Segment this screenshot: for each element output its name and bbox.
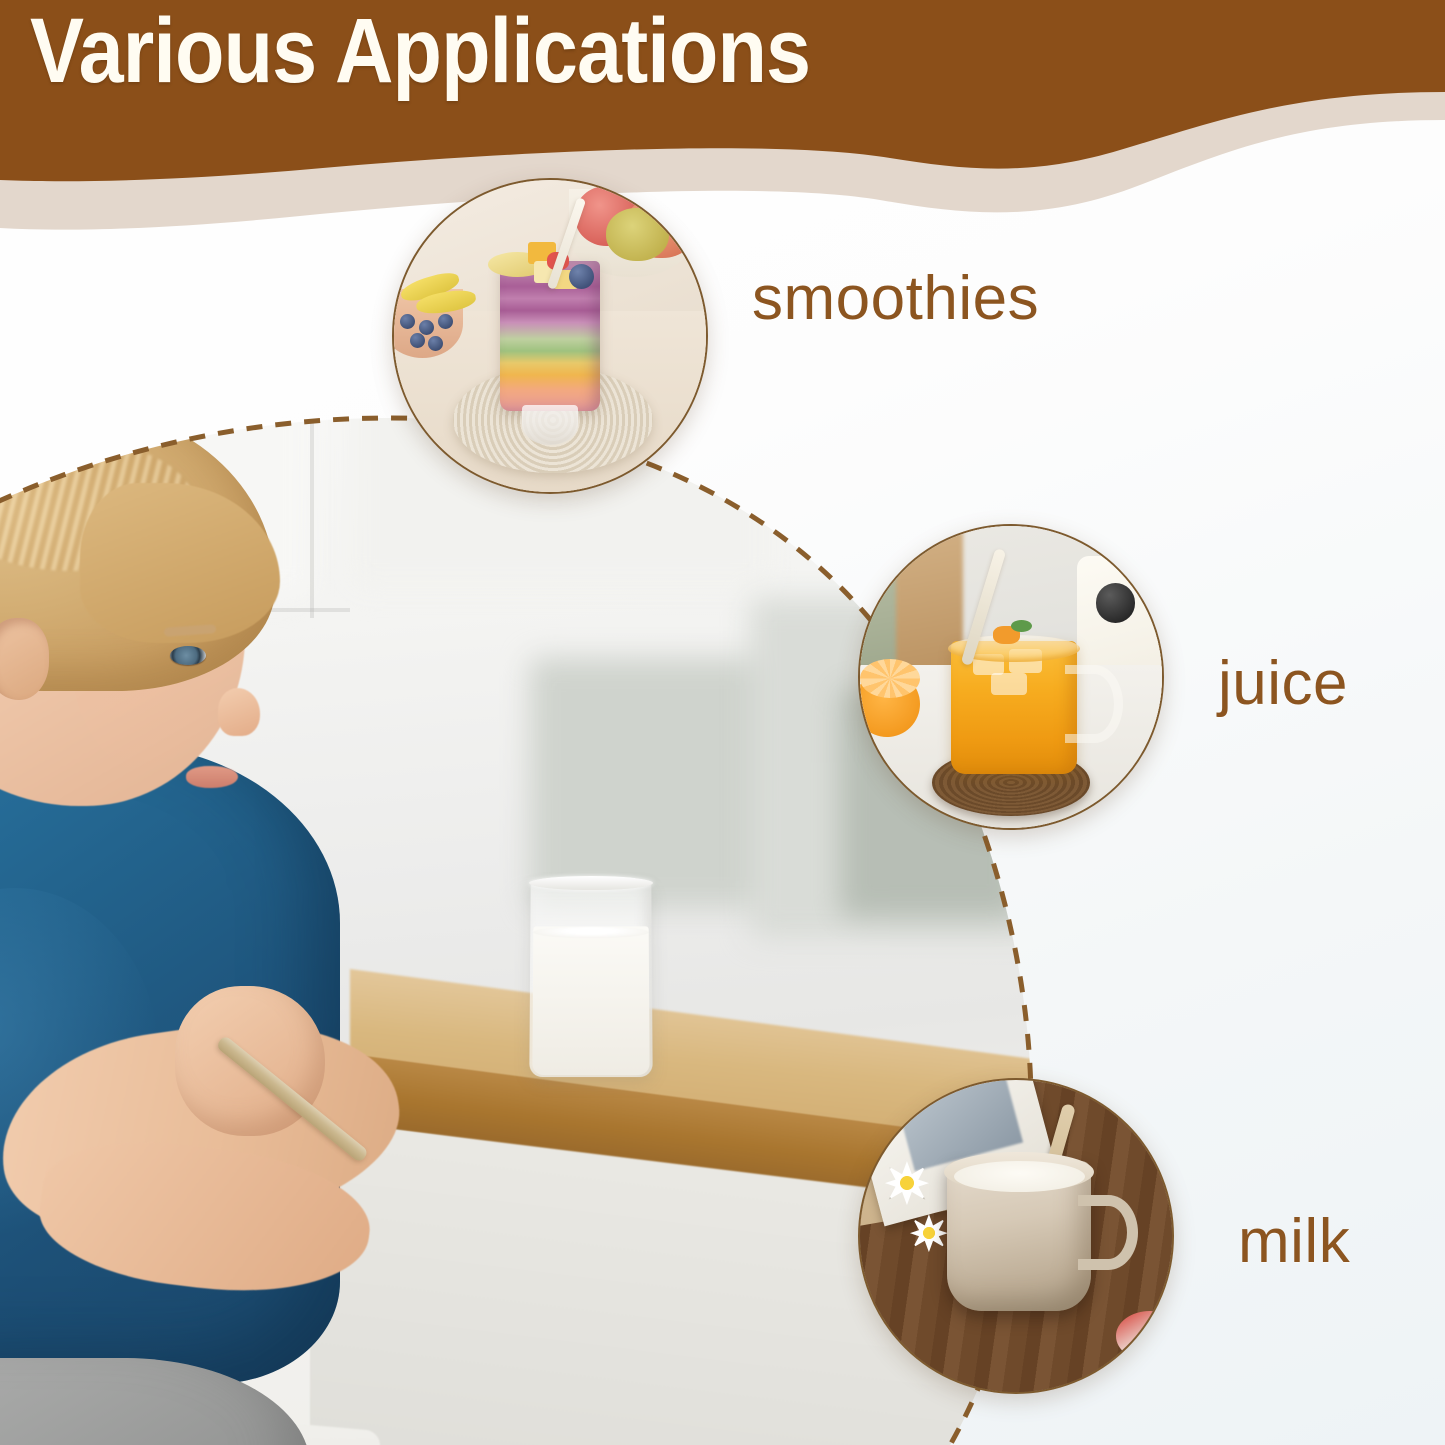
callout-label-smoothies: smoothies bbox=[752, 263, 1039, 334]
header-banner: Various Applications bbox=[0, 0, 1445, 300]
glass-rim bbox=[529, 876, 653, 890]
callout-circle-smoothies[interactable] bbox=[392, 178, 708, 494]
juice-photo bbox=[860, 526, 1162, 828]
glass-foot bbox=[522, 405, 578, 446]
daisy-flower bbox=[910, 1214, 948, 1252]
milk-surface bbox=[954, 1161, 1085, 1192]
callout-circle-juice[interactable] bbox=[858, 524, 1164, 830]
appliance-knob bbox=[1096, 583, 1135, 622]
smoothie-photo bbox=[394, 180, 706, 492]
milk-glass bbox=[529, 882, 652, 1077]
callout-circle-milk[interactable] bbox=[858, 1078, 1174, 1394]
boy-nose bbox=[218, 688, 260, 736]
page-title: Various Applications bbox=[30, 2, 810, 101]
milk-photo bbox=[860, 1080, 1172, 1392]
mug-handle bbox=[1065, 665, 1122, 744]
red-object bbox=[1116, 1311, 1174, 1361]
mug-handle bbox=[1078, 1195, 1137, 1270]
callout-label-juice: juice bbox=[1218, 648, 1348, 719]
boy-lips bbox=[186, 766, 238, 788]
boy-eye bbox=[170, 646, 206, 665]
daisy-flower bbox=[885, 1161, 929, 1205]
callout-label-milk: milk bbox=[1238, 1206, 1350, 1277]
marketing-image-stage: Various Applications bbox=[0, 0, 1445, 1445]
